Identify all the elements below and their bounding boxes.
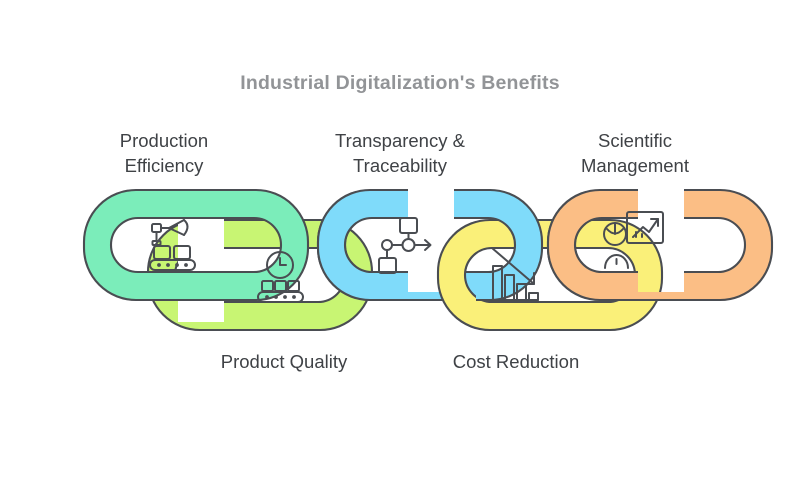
chain-graphic: [0, 0, 800, 500]
link-label-transparency-traceability: Transparency & Traceability: [285, 129, 515, 179]
link-label-cost-reduction: Cost Reduction: [406, 350, 626, 375]
diagram-canvas: Industrial Digitalization's Benefits: [0, 0, 800, 500]
link-label-scientific-management: Scientific Management: [520, 129, 750, 179]
link-label-product-quality: Product Quality: [174, 350, 394, 375]
flowchart-nodes-icon: [379, 218, 431, 273]
link-label-production-efficiency: Production Efficiency: [54, 129, 274, 179]
